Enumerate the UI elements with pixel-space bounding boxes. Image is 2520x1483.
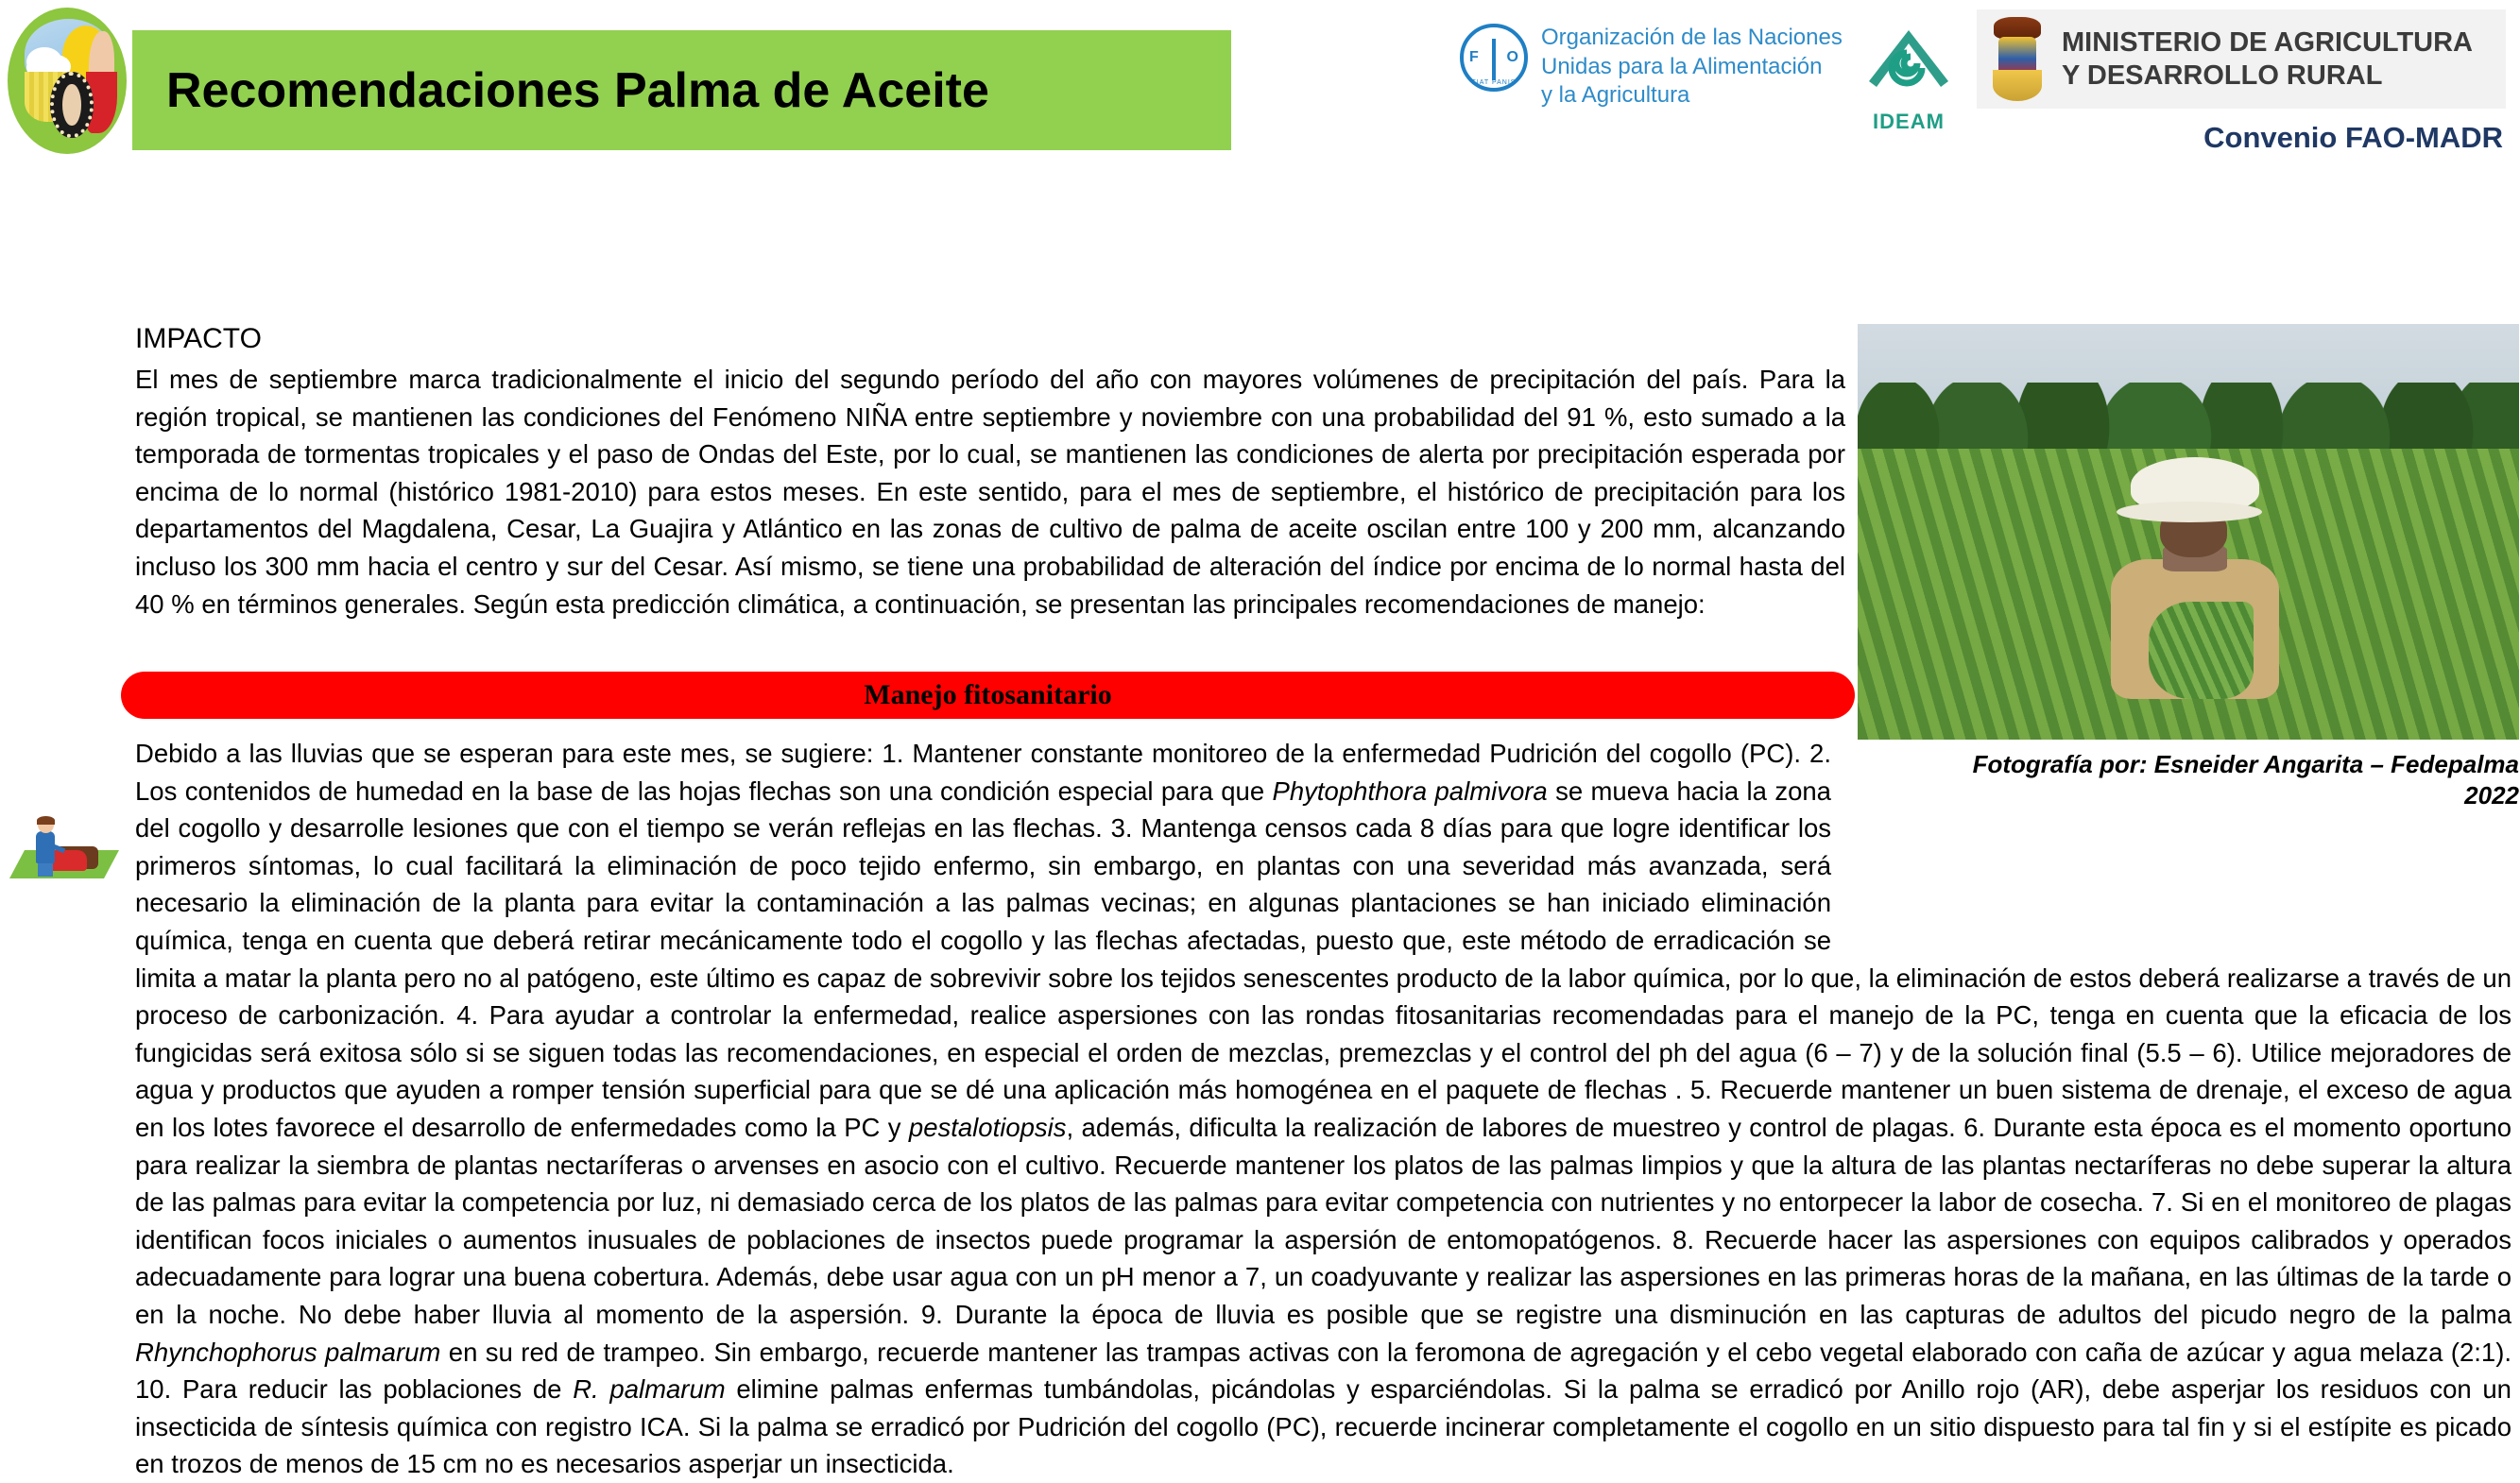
impacto-paragraph: El mes de septiembre marca tradicionalme…: [135, 361, 1845, 622]
fao-name-line-1: Organización de las Naciones: [1541, 24, 1843, 53]
species-name-r-palmarum: R. palmarum: [573, 1374, 725, 1404]
fitosanitario-paragraph: Debido a las lluvias que se esperan para…: [135, 735, 2511, 1483]
shield-wreath-shape: [1993, 70, 2042, 101]
fao-name-text: Organización de las Naciones Unidas para…: [1541, 24, 1843, 111]
madr-logo-block: MINISTERIO DE AGRICULTURA Y DESARROLLO R…: [1977, 9, 2506, 109]
convenio-label: Convenio FAO-MADR: [2203, 121, 2503, 155]
fito-text-part-3: , además, dificulta la realización de la…: [135, 1113, 2511, 1329]
madr-name-text: MINISTERIO DE AGRICULTURA Y DESARROLLO R…: [2062, 26, 2473, 93]
fao-emblem-icon: F O FIAT PANIS: [1460, 24, 1528, 92]
photo-worker-figure: [2122, 457, 2268, 690]
photo-worker-hat-brim: [2117, 502, 2262, 522]
ideam-label: IDEAM: [1852, 110, 1965, 134]
species-name-rhynchophorus: Rhynchophorus palmarum: [135, 1338, 440, 1367]
species-name-pestalotiopsis: pestalotiopsis: [909, 1113, 1067, 1142]
document-header: Recomendaciones Palma de Aceite F O FIAT…: [0, 0, 2520, 151]
ideam-logo: IDEAM: [1852, 26, 1965, 134]
title-banner: Recomendaciones Palma de Aceite: [132, 30, 1231, 150]
fao-name-line-3: y la Agricultura: [1541, 81, 1843, 111]
page-title: Recomendaciones Palma de Aceite: [132, 62, 989, 119]
lawnmower-illustration-icon: [17, 775, 111, 878]
fao-motto: FIAT PANIS: [1464, 79, 1524, 86]
illustration-person-hair: [37, 816, 55, 825]
manejo-fitosanitario-banner: Manejo fitosanitario: [121, 672, 1855, 719]
madr-line-1: MINISTERIO DE AGRICULTURA: [2062, 26, 2473, 60]
fao-letter-f: F: [1469, 49, 1479, 66]
fao-logo: F O FIAT PANIS Organización de las Nacio…: [1460, 24, 1843, 111]
impacto-heading: IMPACTO: [135, 323, 262, 355]
photo-text-wrap-spacer: [1831, 735, 2511, 929]
colombia-crest-logo-icon: [8, 8, 127, 154]
fao-name-line-2: Unidas para la Alimentación: [1541, 53, 1843, 82]
ideam-spiral-icon: [1865, 26, 1952, 108]
colombia-shield-icon: [1988, 16, 2047, 103]
species-name-phytophthora: Phytophthora palmivora: [1273, 776, 1548, 806]
photo-treeline-region: [1858, 383, 2519, 457]
manejo-fitosanitario-label: Manejo fitosanitario: [864, 679, 1111, 711]
crest-medal-shape: [50, 72, 93, 138]
photo-palm-frond: [2149, 602, 2254, 699]
fao-letter-o: O: [1507, 49, 1518, 66]
plantation-photo: [1858, 324, 2519, 740]
madr-line-2: Y DESARROLLO RURAL: [2062, 60, 2473, 93]
